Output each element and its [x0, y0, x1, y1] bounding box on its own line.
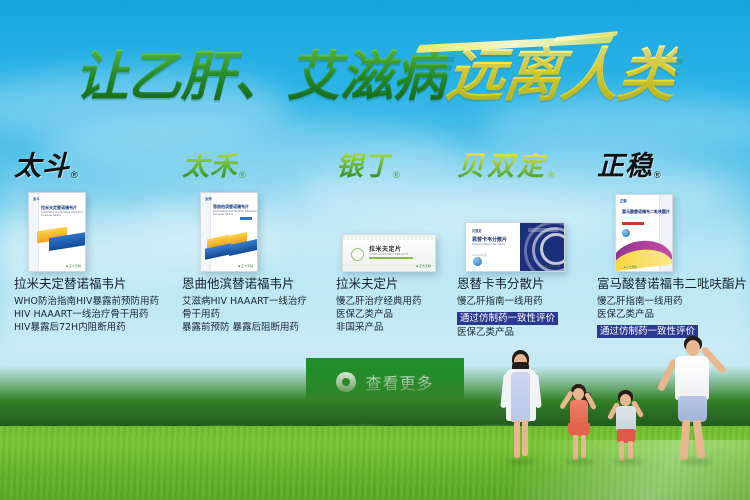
box-label: 恩替卡韦分散片: [472, 236, 507, 243]
product-card-3[interactable]: 银丁® 拉米夫定片 LAMIVUDINE TABLETS ■ 正大天晴 拉米夫定…: [336, 136, 456, 334]
product-image: 太禾 恩曲他滨替诺福韦片 Emtricitabine and Tenofovir…: [182, 180, 342, 272]
product-feature: HIV暴露后72H内阻断用药: [14, 321, 174, 334]
product-brand-name: 太斗: [14, 153, 70, 180]
box-company-logo: ■ 正大天晴: [545, 264, 560, 268]
box-tag: [528, 228, 558, 232]
leg: [522, 420, 528, 456]
product-title: 富马酸替诺福韦二吡呋酯片: [597, 276, 749, 292]
head: [620, 394, 631, 406]
box-company-logo: ■ 正大天晴: [66, 264, 81, 268]
leg: [693, 420, 706, 459]
product-feature: 非国采产品: [336, 321, 456, 334]
product-card-2[interactable]: 太禾® 太禾 恩曲他滨替诺福韦片 Emtricitabine and Tenof…: [182, 136, 342, 334]
product-feature: 慢乙肝指南一线用药: [597, 295, 749, 308]
product-brand: 太斗®: [14, 136, 174, 180]
registered-mark-icon: ®: [548, 170, 555, 180]
product-feature: HIV HAAART一线治疗骨干用药: [14, 308, 174, 321]
product-image: 正稳 富马酸替诺福韦二吡呋酯片 ■ 正大天晴: [597, 180, 749, 272]
box-tag: [240, 217, 252, 220]
leg: [628, 441, 633, 459]
product-title: 拉米夫定片: [336, 276, 456, 292]
shadow: [565, 459, 595, 464]
product-box-5: 正稳 富马酸替诺福韦二吡呋酯片 ■ 正大天晴: [615, 194, 673, 272]
shorts: [678, 396, 707, 422]
box-brandmark: 太斗: [33, 196, 40, 201]
box-pill-graphic: [622, 229, 630, 237]
box-note: 0.5mg 14片装: [472, 253, 487, 257]
box-arc-decoration: [540, 233, 565, 265]
skirt: [568, 422, 590, 436]
figure-mother: [498, 350, 544, 460]
product-feature: 医保乙类产品: [336, 308, 456, 321]
head: [573, 388, 584, 400]
family-illustration: [490, 320, 750, 460]
box-label: 富马酸替诺福韦二吡呋酯片: [622, 209, 670, 215]
product-feature: 暴露前预防 暴露后阻断用药: [182, 321, 342, 334]
product-feature: WHO防治指南HIV暴露前预防用药: [14, 295, 174, 308]
product-feature: 骨干用药: [182, 308, 342, 321]
leg: [514, 420, 520, 458]
banner-headline: 让乙肝、艾滋病远离人类: [0, 36, 750, 114]
product-title: 恩曲他滨替诺福韦片: [182, 276, 342, 292]
leg: [573, 435, 578, 460]
leg: [680, 420, 691, 460]
shadow: [613, 459, 643, 464]
product-brand-name: 正稳: [597, 153, 653, 180]
banner-stage: 让乙肝、艾滋病远离人类 太斗® 太斗 拉米夫定替诺福韦片 Lamivudine …: [0, 0, 750, 500]
product-card-5[interactable]: 正稳® 正稳 富马酸替诺福韦二吡呋酯片 ■ 正大天晴 富马酸替诺福韦二吡呋酯片 …: [597, 136, 749, 339]
product-feature-list: 慢乙肝治疗经典用药 医保乙类产品 非国采产品: [336, 295, 456, 334]
product-feature: 艾滋病HIV HAAART一线治疗: [182, 295, 342, 308]
product-brand-name: 贝双定: [457, 153, 547, 180]
product-title: 恩替卡韦分散片: [457, 276, 597, 292]
dress: [511, 372, 530, 422]
product-box-3: 拉米夫定片 LAMIVUDINE TABLETS ■ 正大天晴: [342, 234, 436, 272]
product-list: 太斗® 太斗 拉米夫定替诺福韦片 Lamivudine and Tenofovi…: [0, 136, 750, 346]
box-accent-line: [369, 257, 413, 259]
box-seal-mark: [351, 248, 364, 261]
box-sublabel: Entecavir Dispersible Tablets: [472, 243, 505, 246]
product-box-4: 贝双定 恩替卡韦分散片 Entecavir Dispersible Tablet…: [465, 222, 565, 272]
product-card-4[interactable]: 贝双定® 贝双定 恩替卡韦分散片 Entecavir Dispersible T…: [457, 136, 597, 339]
product-feature-list: 艾滋病HIV HAAART一线治疗 骨干用药 暴露前预防 暴露后阻断用药: [182, 295, 342, 334]
product-box-1: 太斗 拉米夫定替诺福韦片 Lamivudine and Tenofovir Di…: [28, 192, 86, 272]
product-title: 拉米夫定替诺福韦片: [14, 276, 174, 292]
box-brandmark: 贝双定: [472, 228, 482, 233]
box-pill-graphic: [473, 257, 482, 266]
box-brandmark: 正稳: [620, 198, 627, 203]
box-company-logo: ■ 正大天晴: [624, 265, 637, 269]
box-top-edge: [343, 235, 435, 240]
box-sublabel: LAMIVUDINE TABLETS: [369, 252, 408, 256]
registered-mark-icon: ®: [239, 170, 246, 180]
product-brand: 贝双定®: [457, 136, 597, 180]
box-accent-line: [622, 222, 644, 225]
product-feature: 慢乙肝指南一线用药: [457, 295, 597, 308]
product-brand: 正稳®: [597, 136, 749, 180]
product-image: 拉米夫定片 LAMIVUDINE TABLETS ■ 正大天晴: [336, 180, 456, 272]
product-brand: 银丁®: [336, 136, 456, 180]
shadow: [682, 459, 712, 464]
shadow: [506, 459, 536, 464]
product-card-1[interactable]: 太斗® 太斗 拉米夫定替诺福韦片 Lamivudine and Tenofovi…: [14, 136, 174, 334]
leg: [581, 435, 586, 458]
product-brand: 太禾®: [182, 136, 342, 180]
box-company-logo: ■ 正大天晴: [416, 264, 431, 268]
leg: [619, 441, 624, 461]
shirt: [675, 356, 709, 400]
box-brandmark: 太禾: [205, 196, 212, 201]
registered-mark-icon: ®: [393, 170, 400, 180]
figure-girl: [560, 378, 600, 460]
headline-part-green: 让乙肝、艾滋病: [74, 45, 447, 108]
figure-father: [662, 338, 732, 460]
product-brand-name: 银丁: [336, 153, 392, 180]
product-image: 贝双定 恩替卡韦分散片 Entecavir Dispersible Tablet…: [457, 180, 597, 272]
product-box-2: 太禾 恩曲他滨替诺福韦片 Emtricitabine and Tenofovir…: [200, 192, 258, 272]
box-sublabel: Lamivudine and Tenofovir Disoproxil Fuma…: [41, 211, 85, 218]
registered-mark-icon: ®: [71, 170, 78, 180]
registered-mark-icon: ®: [654, 170, 661, 180]
figure-boy: [608, 386, 648, 460]
product-image: 太斗 拉米夫定替诺福韦片 Lamivudine and Tenofovir Di…: [14, 180, 174, 272]
product-brand-name: 太禾: [182, 153, 238, 180]
box-sublabel: Emtricitabine and Tenofovir Disoproxil F…: [213, 210, 257, 217]
product-feature: 慢乙肝治疗经典用药: [336, 295, 456, 308]
head: [686, 340, 700, 356]
product-feature-list: WHO防治指南HIV暴露前预防用药 HIV HAAART一线治疗骨干用药 HIV…: [14, 295, 174, 334]
box-company-logo: ■ 正大天晴: [238, 264, 253, 268]
